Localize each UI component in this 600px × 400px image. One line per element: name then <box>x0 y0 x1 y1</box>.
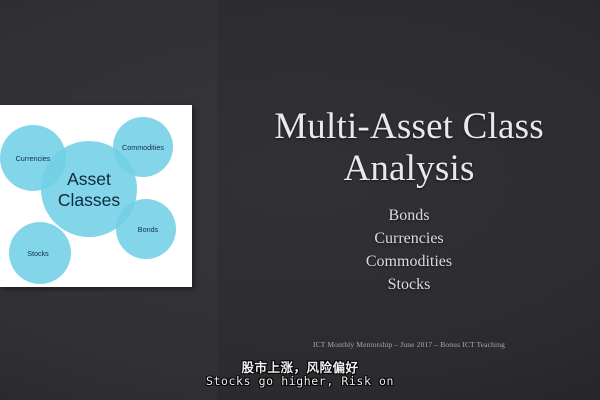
bubble-label-classes: Classes <box>58 190 120 210</box>
slide-title-line-1: Multi-Asset Class <box>218 106 600 148</box>
asset-class-list: Bonds Currencies Commodities Stocks <box>218 204 600 296</box>
bubble-label-asset: Asset <box>67 169 111 189</box>
bubble-label-stocks: Stocks <box>27 249 49 258</box>
bubble-label-currencies: Currencies <box>16 154 51 163</box>
presentation-slide: Currencies Commodities Bonds Stocks Asse… <box>0 0 600 400</box>
bubble-label-commodities: Commodities <box>122 143 164 152</box>
list-item-bonds: Bonds <box>218 204 600 227</box>
slide-title: Multi-Asset Class Analysis <box>218 106 600 190</box>
bubble-asset-classes-center <box>41 141 137 237</box>
bubble-diagram-svg: Currencies Commodities Bonds Stocks Asse… <box>0 105 192 287</box>
slide-title-line-2: Analysis <box>218 148 600 190</box>
caption-english: Stocks go higher, Risk on <box>0 374 600 388</box>
bubble-label-bonds: Bonds <box>138 225 159 234</box>
list-item-currencies: Currencies <box>218 227 600 250</box>
asset-classes-diagram: Currencies Commodities Bonds Stocks Asse… <box>0 105 192 287</box>
footer-credit: ICT Monthly Mentorship – June 2017 – Bon… <box>218 340 600 349</box>
list-item-commodities: Commodities <box>218 250 600 273</box>
list-item-stocks: Stocks <box>218 273 600 296</box>
